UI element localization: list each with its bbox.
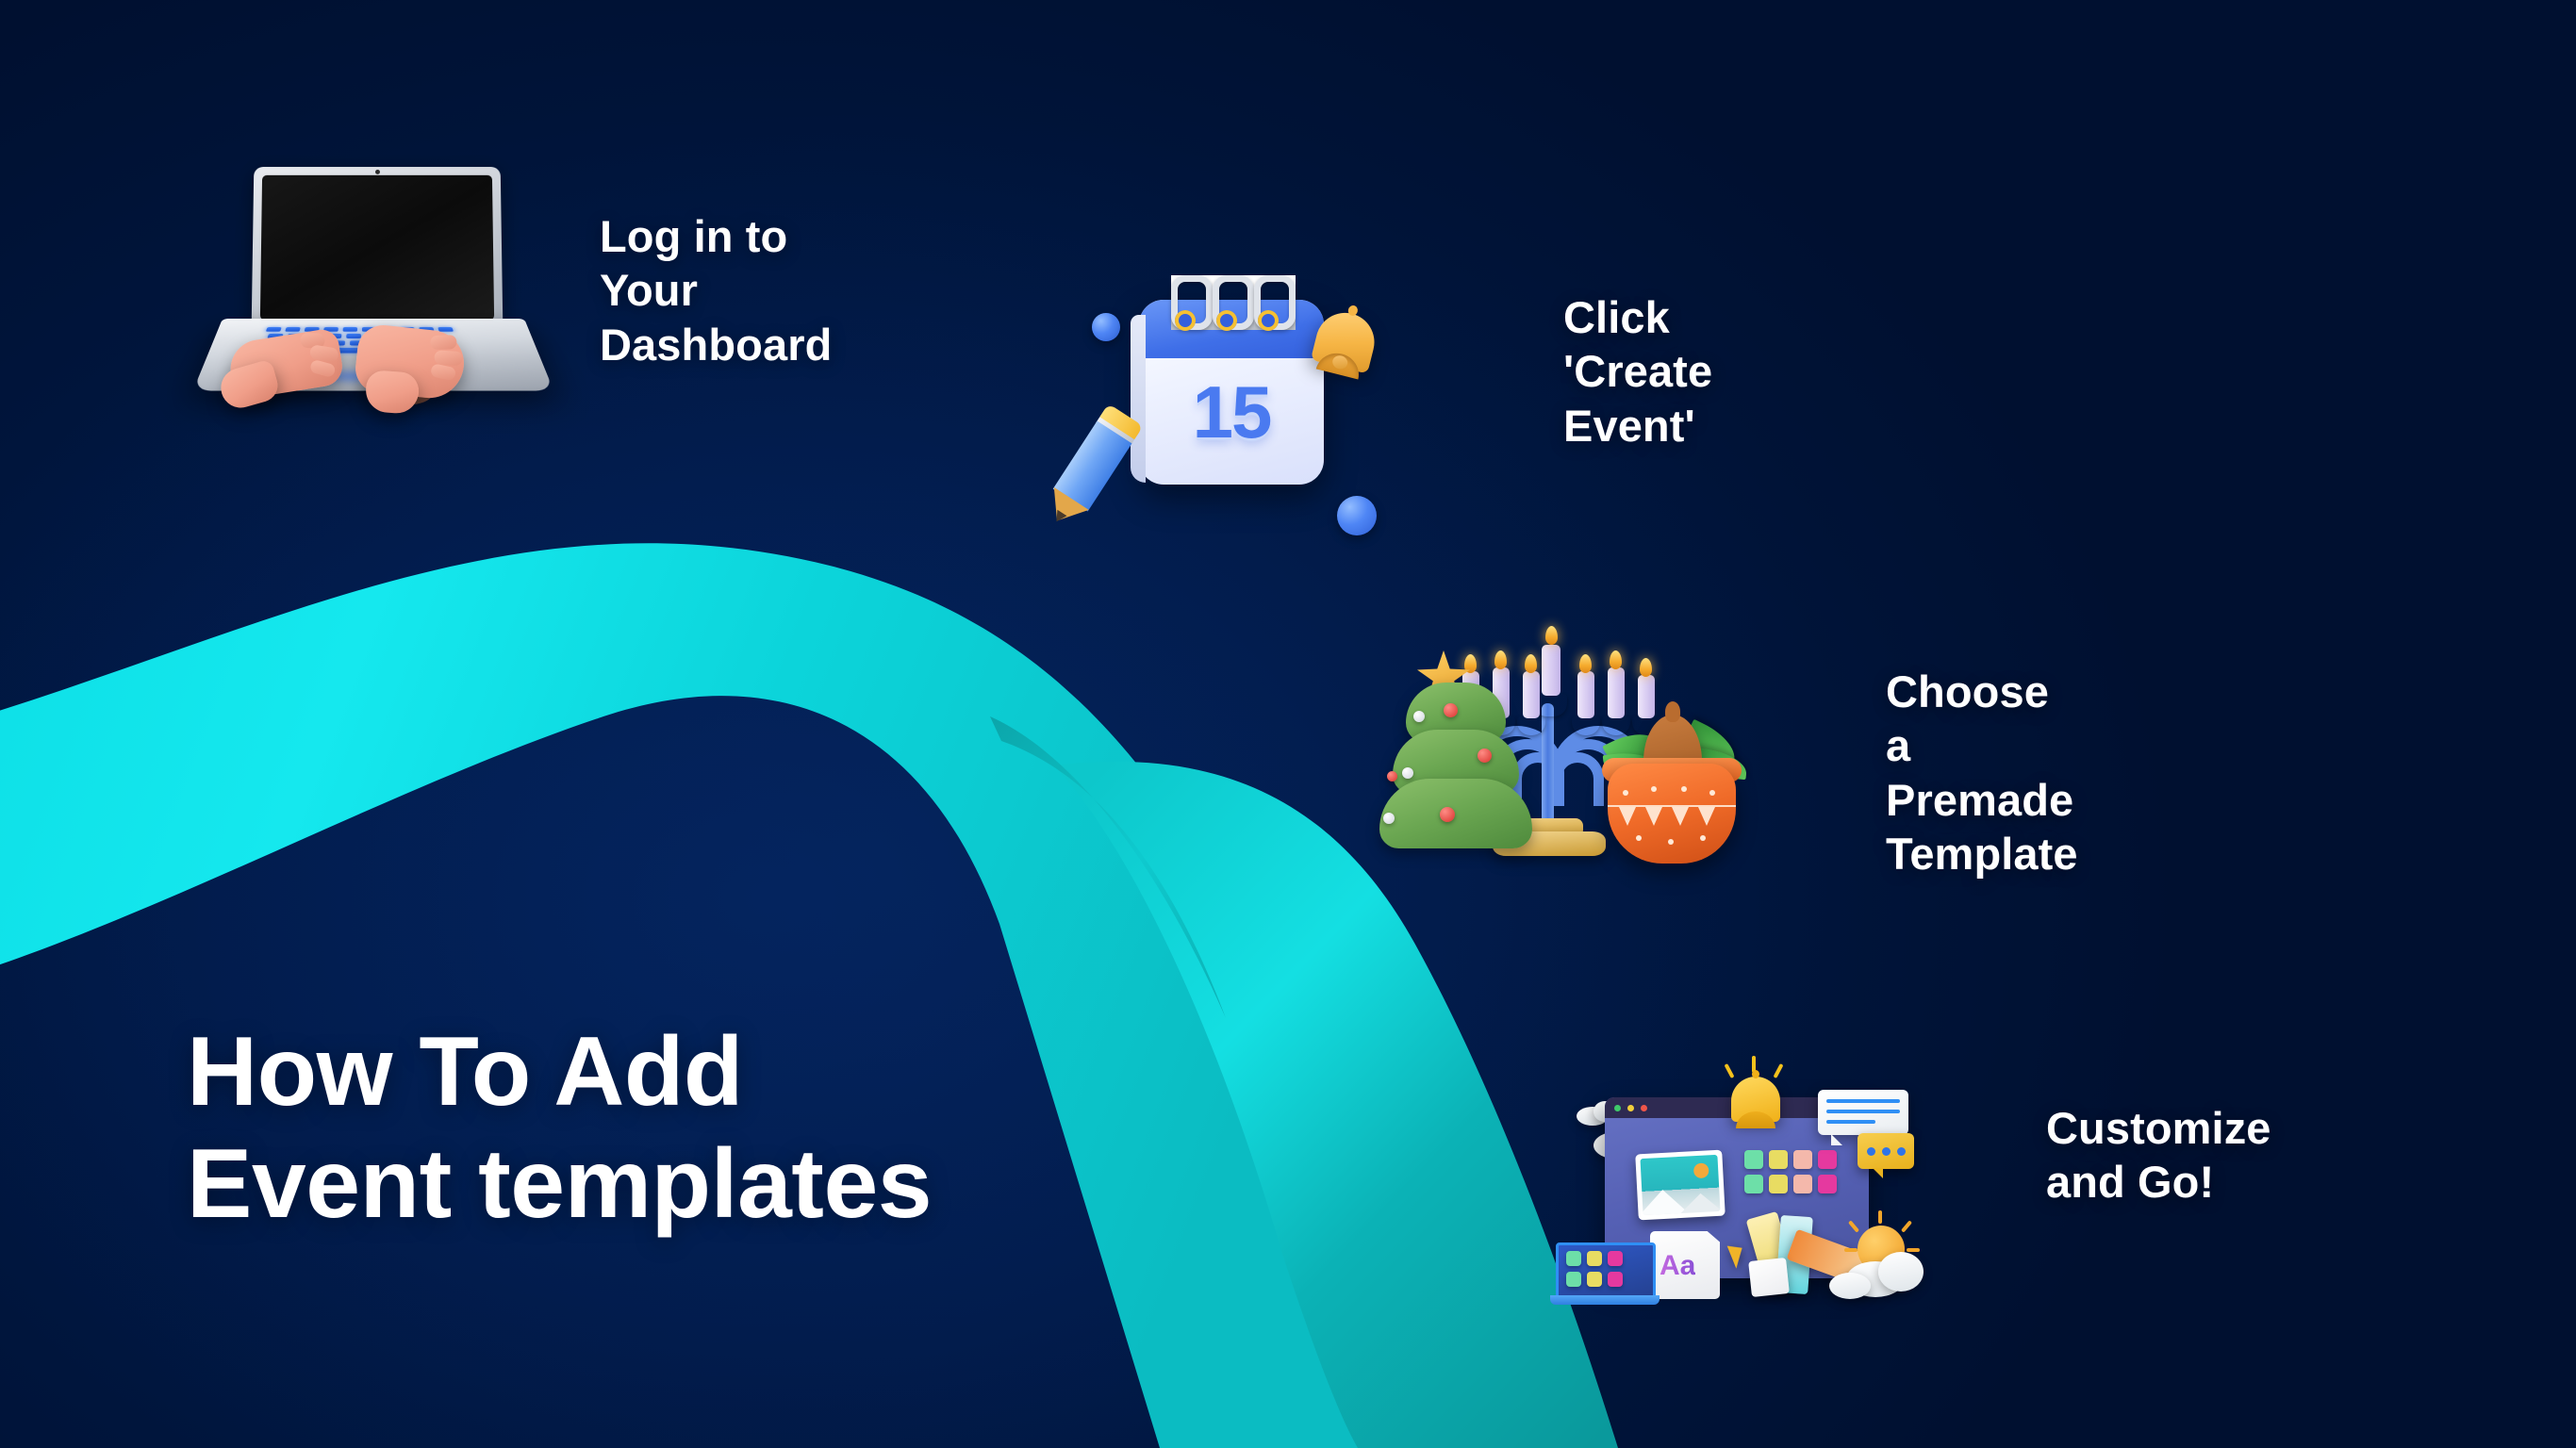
typography-sample: Aa	[1660, 1250, 1695, 1282]
typography-card: Aa	[1650, 1231, 1720, 1299]
step-choose-template-label: Choose a Premade Template	[1886, 665, 2078, 880]
chat-bubble-white	[1818, 1090, 1908, 1135]
image-card-icon	[1635, 1150, 1726, 1221]
chat-bubble-yellow	[1858, 1133, 1914, 1169]
step-login-label: Log in to Your Dashboard	[600, 209, 832, 371]
laptop-small-icon	[1556, 1242, 1658, 1305]
step-customize-label: Customize and Go!	[2046, 1101, 2271, 1209]
design-workspace-icon: Aa	[1546, 1056, 1942, 1339]
window-dot-green	[1614, 1105, 1621, 1111]
decor-sphere-large	[1337, 496, 1377, 535]
window-dot-red	[1641, 1105, 1647, 1111]
holiday-tree-menorah-kalash-icon	[1372, 613, 1768, 896]
poster-canvas: How To Add Event templates	[0, 0, 2576, 1448]
decor-sphere-small	[1092, 313, 1120, 341]
page-title: How To Add Event templates	[187, 1016, 932, 1240]
step-create-event-label: Click 'Create Event'	[1563, 290, 1712, 452]
calendar-bell-pencil-icon: 15	[1084, 273, 1395, 556]
window-dot-yellow	[1627, 1105, 1634, 1111]
laptop-hands-typing-icon	[217, 160, 528, 443]
calendar-day-number: 15	[1139, 370, 1324, 455]
